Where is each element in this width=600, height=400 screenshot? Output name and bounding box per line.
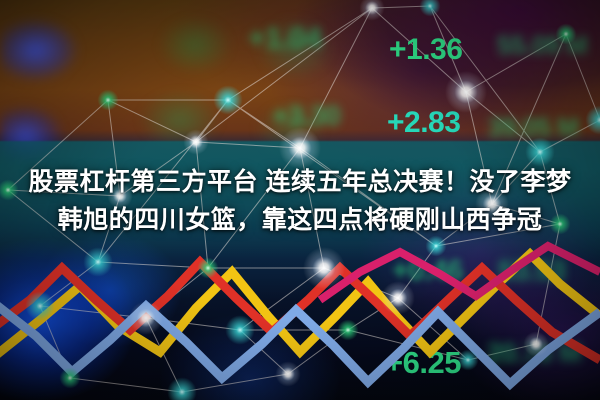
banner-image: +1.04+1.3655.09 M+3.30+2.8339.05 M+0.465… xyxy=(0,0,600,400)
market-value-n-283: +2.83 xyxy=(387,106,460,140)
network-node xyxy=(523,331,548,356)
chart-series-yellow-trend xyxy=(0,254,600,360)
network-node xyxy=(458,350,479,371)
network-node xyxy=(225,315,254,344)
network-node xyxy=(25,291,54,320)
market-value-n-136: +1.36 xyxy=(389,33,462,67)
network-node xyxy=(585,105,600,134)
network-node xyxy=(338,320,359,341)
network-node xyxy=(445,71,487,113)
headline-block: 股票杠杆第三方平台 连续五年总决赛！没了李梦 韩旭的四川女篮，靠这四点将硬刚山西… xyxy=(0,163,600,239)
network-node xyxy=(129,301,163,335)
network-node xyxy=(167,377,196,400)
network-node xyxy=(98,90,119,111)
network-node xyxy=(303,247,345,289)
headline-line-1: 股票杠杆第三方平台 连续五年总决赛！没了李梦 xyxy=(0,163,600,201)
headline-line-2: 韩旭的四川女篮，靠这四点将硬刚山西争冠 xyxy=(0,201,600,239)
market-value-n-104: +1.04 xyxy=(248,22,321,56)
network-node xyxy=(198,258,219,279)
network-node xyxy=(275,361,300,386)
market-value-n-5509: 55.09 M xyxy=(497,30,587,61)
network-node xyxy=(381,281,415,315)
chart-series-blue-trend xyxy=(0,300,600,384)
market-value-n-625: +6.25 xyxy=(385,345,461,381)
network-node xyxy=(183,129,208,154)
market-value-n-3905: 39.05 M xyxy=(488,112,578,143)
market-value-n-930: +3.30 xyxy=(272,100,340,132)
network-node xyxy=(83,247,112,276)
chart-series-red-trend xyxy=(0,262,600,360)
market-value-n-353: 53.53 xyxy=(498,255,566,287)
chart-series-magenta-trend xyxy=(320,246,600,300)
network-node xyxy=(60,368,81,389)
network-node xyxy=(213,85,242,114)
network-node xyxy=(420,0,441,17)
market-value-n-046: +0.46 xyxy=(392,255,463,288)
network-node xyxy=(359,0,384,21)
network-node xyxy=(556,24,577,45)
market-value-n-2076: 20.76 M xyxy=(487,338,581,369)
